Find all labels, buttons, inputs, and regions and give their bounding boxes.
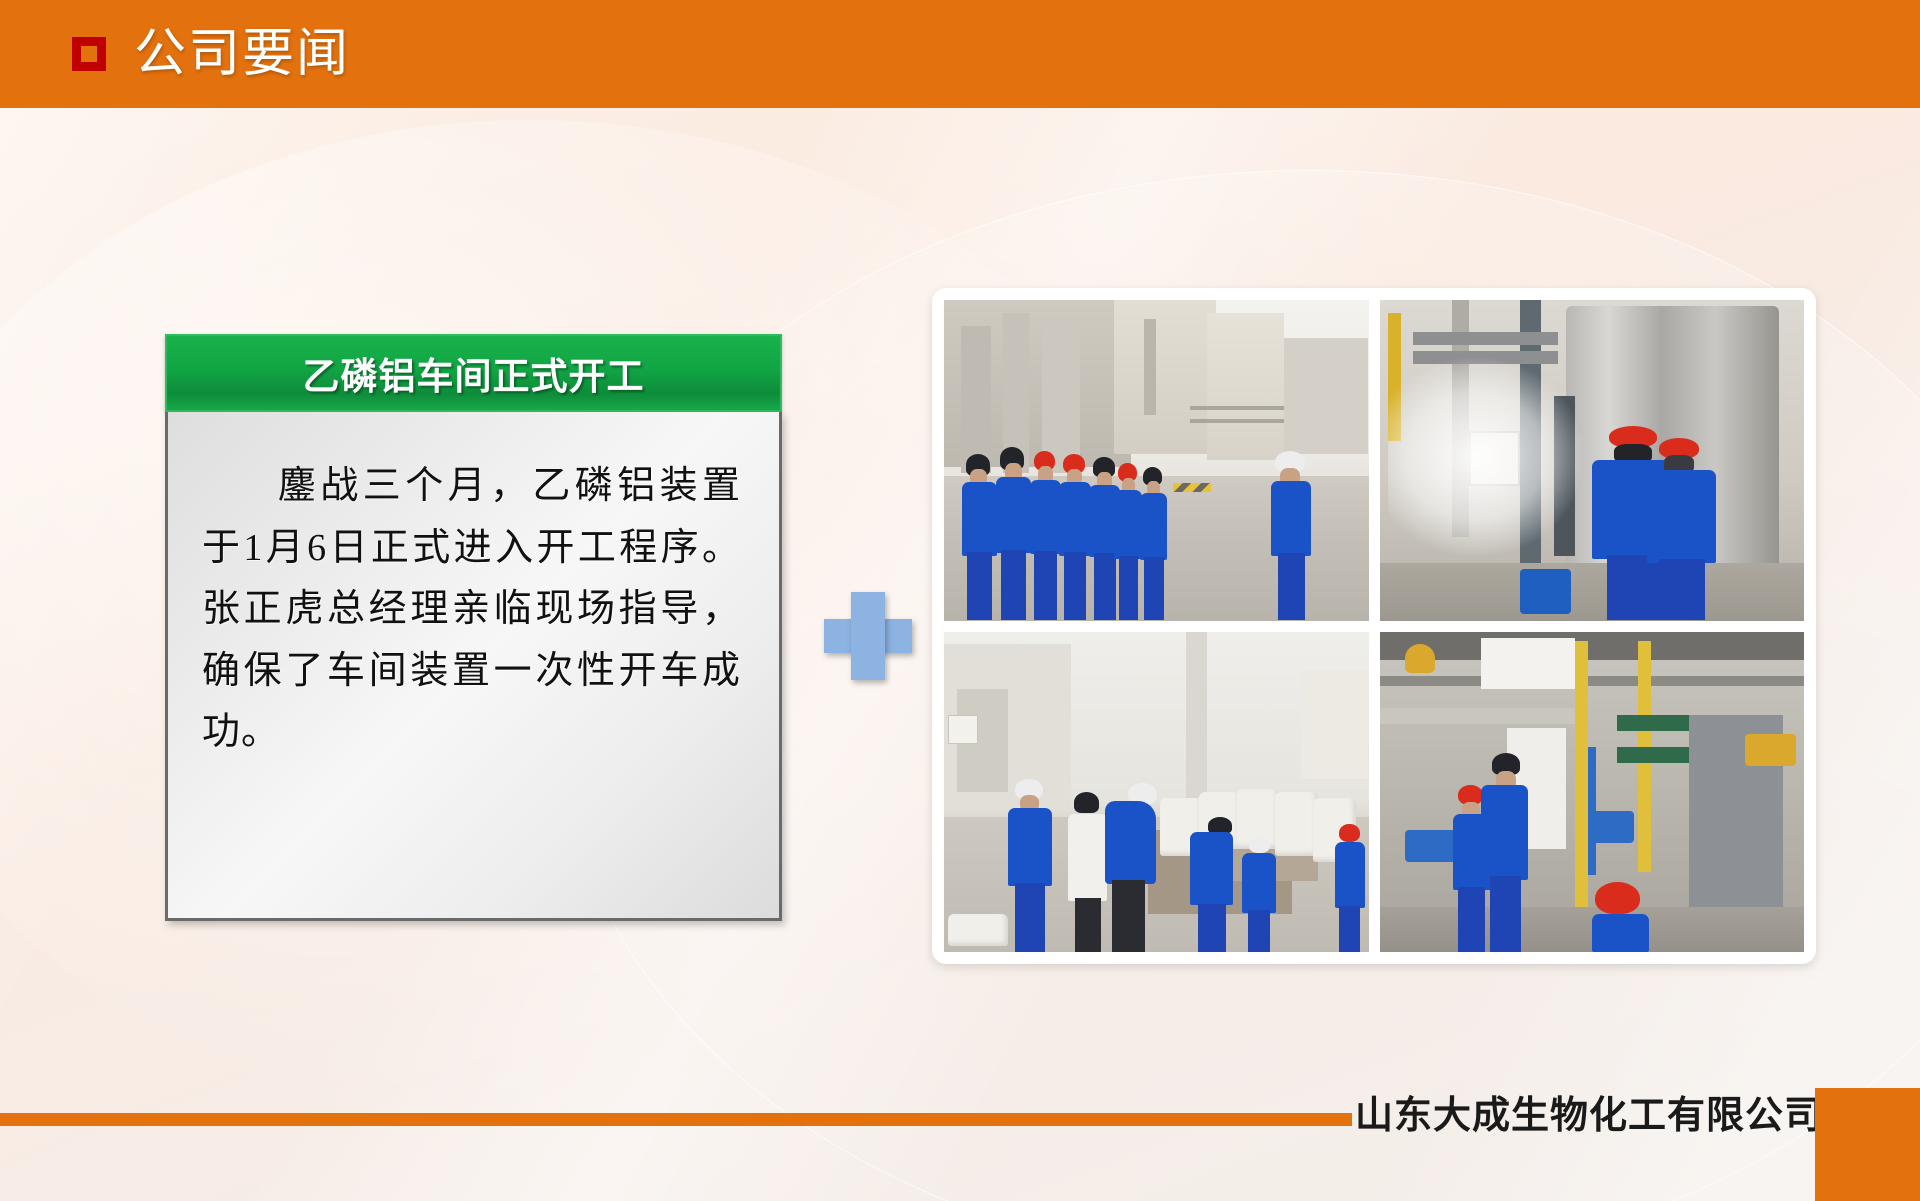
photo3-worker-4-hat [1208,817,1232,834]
photo3-worker-bending [1105,773,1160,952]
photo1-worker-1 [961,454,999,621]
photo2-steam-cloud [1388,358,1583,557]
photo1-worker-7-coat [1140,493,1167,561]
photo3-bag-4 [1275,792,1317,856]
photo3-worker-6-helmet [1339,824,1359,842]
photo1-worker-7-legs [1144,557,1164,620]
plus-cross-icon [824,592,912,680]
photo3-worker-6 [1335,824,1369,952]
photo-panel [932,288,1816,964]
article-heading-text: 乙磷铝车间正式开工 [303,346,645,400]
page-title: 公司要闻 [134,28,350,80]
photo1-column-1 [961,326,991,473]
photo1-building-a [1114,300,1216,454]
photo3-worker-4-coat [1190,832,1233,905]
photo1-worker-2 [995,447,1033,620]
photo1-building-b [1207,313,1283,460]
photo3-worker-4-legs [1198,904,1226,952]
photo3-worker-whitecoat-legs [1075,898,1101,952]
photo3-worker-whitecoat-hat [1074,792,1099,813]
photo4-ceiling-rail [1380,676,1805,686]
photo2-horizontal-pipe-1 [1413,332,1557,345]
photo3-worker-5-legs [1248,910,1270,952]
photo1-building-c [1284,338,1369,453]
photo-workers-lineup [944,300,1369,621]
photo3-bag-floor [948,914,1007,946]
photo-valve-operation [1380,300,1805,621]
photo4-window-upper [1481,638,1574,689]
photo1-worker-5-legs [1094,553,1116,620]
photo2-pump-motor [1520,569,1571,614]
photo3-worker-1-coat [1008,808,1052,886]
photo3-worker-6-coat [1335,842,1366,909]
photo3-worker-whitecoat-coat [1068,814,1107,901]
photo1-worker-6-legs [1119,556,1139,620]
photo1-manager [1271,451,1313,621]
header-inner: 公司要闻 [0,0,1920,108]
photo3-worker-whitecoat [1067,792,1109,952]
photo4-pump-left [1405,830,1456,862]
photo1-manager-coat [1271,481,1311,556]
photo3-worker-5 [1241,837,1279,952]
plus-cross-vertical-bar [851,592,885,680]
photo4-lamp [1405,644,1435,673]
photo3-worker-bending-legs [1112,880,1145,952]
photo1-worker-2-coat [996,477,1031,553]
photo3-worker-5-helmet [1249,837,1270,853]
photo1-worker-4-coat [1059,482,1090,555]
photo4-worker-front-legs [1490,876,1522,952]
photo1-hazard-stripe [1173,483,1211,493]
photo4-ceiling-beam [1380,632,1805,661]
photo1-worker-3-legs [1034,551,1056,621]
photo3-building-right [1301,670,1369,779]
photo3-worker-4 [1190,811,1237,952]
photo3-worker-5-coat [1242,853,1276,913]
photo1-worker-7 [1139,467,1169,621]
photo1-worker-3-coat [1030,480,1061,555]
photo2-worker-back [1647,435,1723,621]
article-heading-bar: 乙磷铝车间正式开工 [165,334,782,412]
photo2-worker-back-legs [1659,559,1705,620]
photo4-instrument-head [1745,734,1796,766]
article-card: 乙磷铝车间正式开工 鏖战三个月，乙磷铝装置于1月6日正式进入开工程序。张正虎总经… [165,334,782,921]
photo3-warning-sign [948,715,978,744]
square-bullet-icon [72,37,106,71]
photo1-worker-6-coat [1114,490,1141,559]
photo3-worker-1 [1008,779,1055,952]
photo4-worker-crouching-coat [1592,914,1649,952]
header-band: 公司要闻 [0,0,1920,108]
photo4-worker-crouching [1592,882,1651,953]
photo1-manager-legs [1278,553,1305,621]
photo4-pump [1592,811,1634,843]
photo3-worker-bending-coat [1105,801,1156,884]
photo1-worker-1-coat [962,482,997,555]
photo4-insulated-pipe [1380,708,1575,724]
footer-company-name: 山东大成生物化工有限公司 [1355,1084,1823,1139]
photo1-worker-2-legs [1001,550,1026,621]
photo3-worker-1-legs [1015,883,1045,952]
photo-material-bags [944,632,1369,953]
photo4-worker-front [1481,753,1532,952]
photo4-worker-crouching-helmet [1595,882,1640,914]
photo-pipe-room [1380,632,1805,953]
article-body: 鏖战三个月，乙磷铝装置于1月6日正式进入开工程序。张正虎总经理亲临现场指导，确保… [165,412,782,921]
photo1-worker-4-legs [1064,552,1086,620]
photo2-worker-back-coat [1647,470,1716,563]
photo1-building-window-strip [1144,319,1157,415]
article-body-text: 鏖战三个月，乙磷铝装置于1月6日正式进入开工程序。张正虎总经理亲临现场指导，确保… [202,456,741,764]
photo1-worker-1-legs [967,552,992,620]
photo4-yellow-pipe-1 [1575,641,1588,929]
photo4-worker-front-coat [1481,785,1528,880]
footer-accent-block [1815,1088,1920,1201]
photo3-worker-6-legs [1339,906,1359,952]
footer-rule [0,1113,1352,1126]
